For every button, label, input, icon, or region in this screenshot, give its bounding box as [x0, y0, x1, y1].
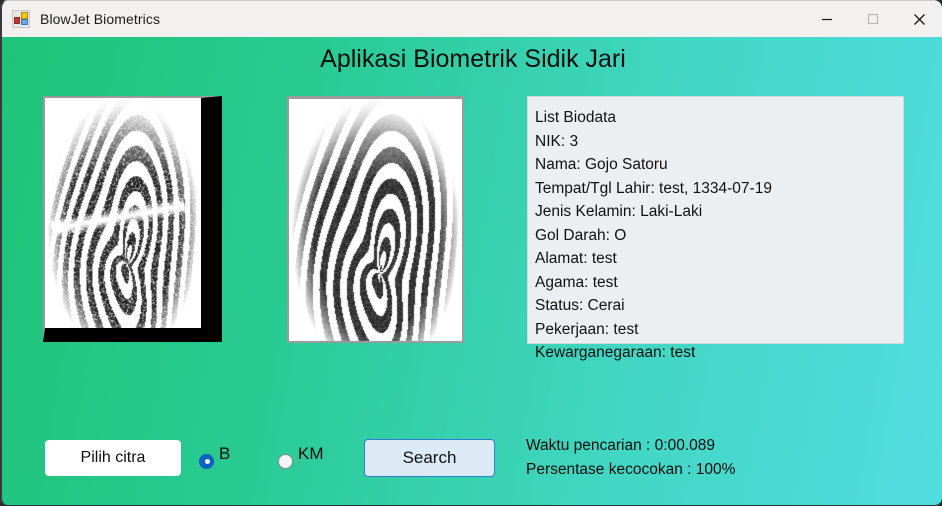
- biodata-line: Agama: test: [535, 271, 903, 295]
- fingerprint-probe-image[interactable]: [43, 96, 222, 342]
- app-grid-icon: [12, 10, 30, 28]
- status-waktu-pencarian: Waktu pencarian : 0:00.089: [526, 434, 735, 458]
- biodata-line: Gol Darah: O: [535, 224, 903, 248]
- biodata-line: Tempat/Tgl Lahir: test, 1334-07-19: [535, 177, 903, 201]
- biodata-line: Pekerjaan: test: [535, 318, 903, 342]
- window-title: BlowJet Biometrics: [40, 11, 160, 27]
- fingerprint-match-image: [287, 96, 464, 343]
- biodata-line: NIK: 3: [535, 130, 903, 154]
- app-window: BlowJet Biometrics Aplikasi Biomet: [0, 0, 942, 506]
- biodata-line: Kewarganegaraan: test: [535, 341, 903, 365]
- radio-label-km: KM: [298, 444, 324, 464]
- minimize-icon[interactable]: [804, 1, 850, 38]
- radio-label-b: B: [219, 444, 230, 464]
- title-bar: BlowJet Biometrics: [0, 0, 942, 37]
- maximize-icon[interactable]: [850, 1, 896, 38]
- biodata-line: Nama: Gojo Satoru: [535, 153, 903, 177]
- algorithm-radio-group: B KM: [195, 440, 335, 476]
- pilih-citra-button[interactable]: Pilih citra: [45, 440, 181, 476]
- page-title: Aplikasi Biometrik Sidik Jari: [2, 45, 942, 74]
- search-button[interactable]: Search: [364, 439, 495, 477]
- radio-dot-unselected-icon: [278, 454, 293, 469]
- biodata-panel: List Biodata NIK: 3 Nama: Gojo Satoru Te…: [527, 96, 904, 344]
- app-body: Aplikasi Biometrik Sidik Jari List Bioda…: [0, 37, 942, 506]
- status-persentase-kecocokan: Persentase kecocokan : 100%: [526, 458, 735, 482]
- biodata-line: Alamat: test: [535, 247, 903, 271]
- radio-option-b[interactable]: B: [199, 451, 230, 471]
- biodata-heading: List Biodata: [535, 106, 903, 130]
- status-panel: Waktu pencarian : 0:00.089 Persentase ke…: [526, 434, 735, 482]
- radio-dot-selected-icon: [199, 454, 214, 469]
- close-icon[interactable]: [896, 1, 942, 38]
- radio-option-km[interactable]: KM: [278, 451, 324, 471]
- biodata-line: Jenis Kelamin: Laki-Laki: [535, 200, 903, 224]
- window-controls: [804, 1, 942, 38]
- biodata-line: Status: Cerai: [535, 294, 903, 318]
